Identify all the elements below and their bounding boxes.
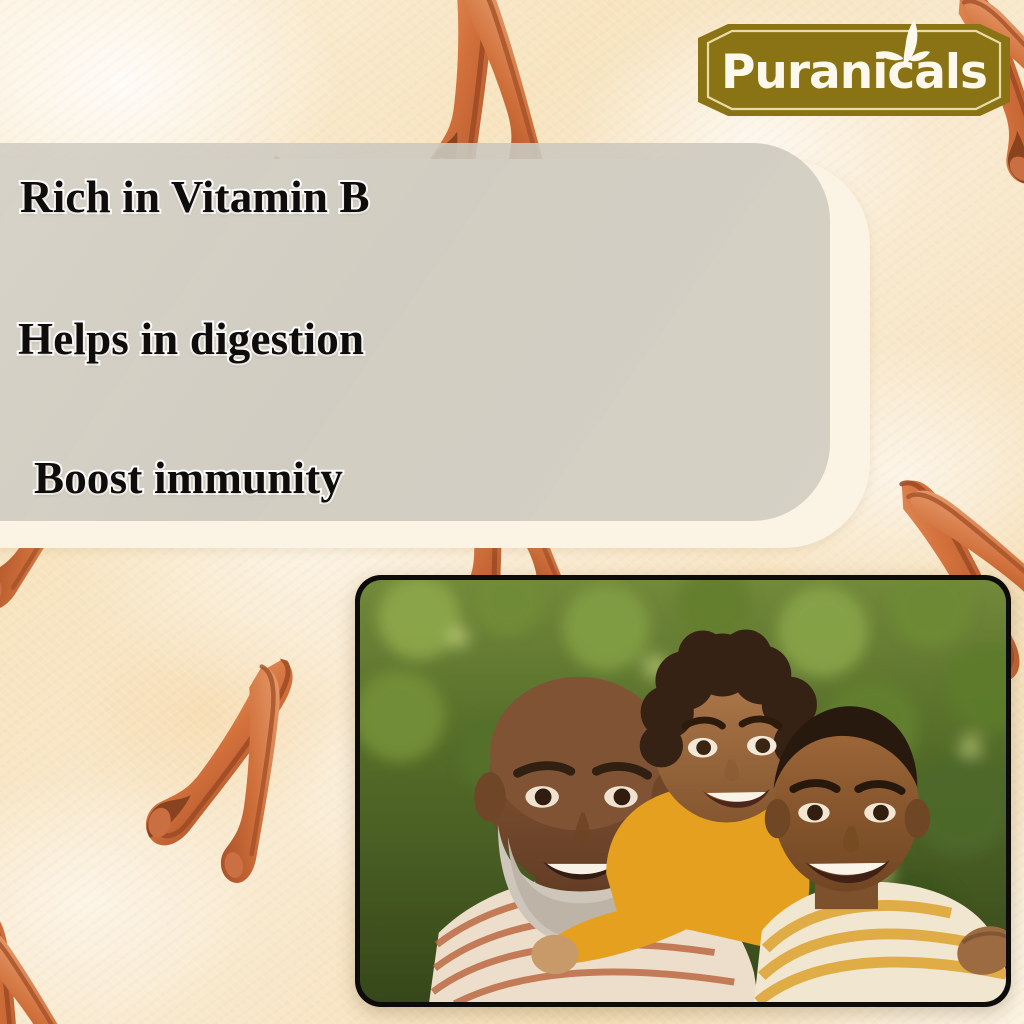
brand-name: Puranicals (698, 49, 1010, 96)
benefit-item-digestion: Helps in digestion (18, 317, 364, 362)
benefits-panel: Rich in Vitamin B Helps in digestion Boo… (0, 143, 830, 521)
family-photo-card[interactable] (355, 575, 1011, 1007)
brand-logo[interactable]: Puranicals (698, 20, 1010, 120)
benefit-item-immunity: Boost immunity (34, 456, 343, 501)
family-photo-image (360, 580, 1006, 1002)
benefits-list: Rich in Vitamin B Helps in digestion Boo… (0, 143, 830, 521)
benefit-item-vitamin-b: Rich in Vitamin B (20, 175, 370, 220)
poster-canvas: Rich in Vitamin B Helps in digestion Boo… (0, 0, 1024, 1024)
benefits-panel-wrapper: Rich in Vitamin B Helps in digestion Boo… (0, 143, 870, 548)
